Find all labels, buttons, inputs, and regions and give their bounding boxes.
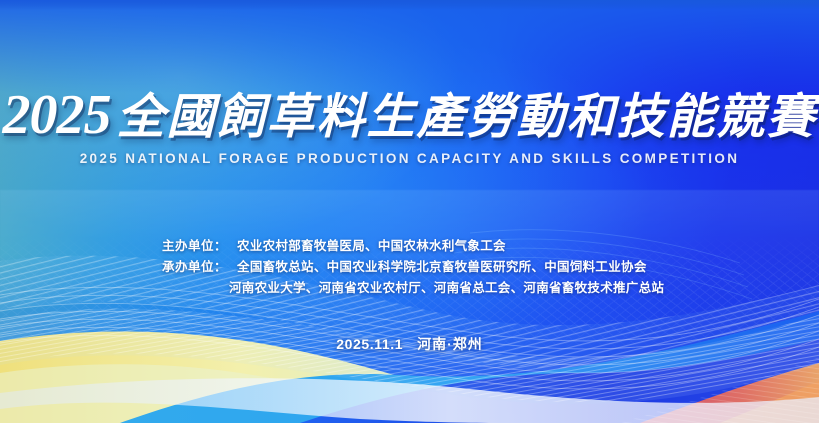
event-location: 河南·郑州 bbox=[417, 336, 483, 352]
title-year: 2025 bbox=[2, 84, 110, 146]
event-date: 2025.11.1 bbox=[336, 336, 403, 352]
poster-title: 2025全國飼草料生產勞動和技能競賽 bbox=[2, 86, 816, 145]
competition-poster: 2025全國飼草料生產勞動和技能競賽 2025 NATIONAL FORAGE … bbox=[0, 0, 819, 423]
title-chinese: 全國飼草料生產勞動和技能競賽 bbox=[116, 91, 816, 144]
credit-value-organizer-continued: 河南农业大学、河南省农业农村厅、河南省总工会、河南省畜牧技术推广总站 bbox=[229, 278, 664, 299]
credit-value-host: 农业农村部畜牧兽医局、中国农林水利气象工会 bbox=[237, 236, 506, 257]
credit-value-organizer: 全国畜牧总站、中国农业科学院北京畜牧兽医研究所、中国饲料工业协会 bbox=[237, 257, 647, 278]
poster-subtitle-english: 2025 NATIONAL FORAGE PRODUCTION CAPACITY… bbox=[0, 151, 819, 166]
headline-block: 2025全國飼草料生產勞動和技能競賽 2025 NATIONAL FORAGE … bbox=[0, 86, 819, 166]
organizer-credits: 主办单位： 农业农村部畜牧兽医局、中国农林水利气象工会 承办单位： 全国畜牧总站… bbox=[0, 236, 819, 299]
credit-label-host: 主办单位： bbox=[162, 236, 227, 257]
credit-row-host: 主办单位： 农业农村部畜牧兽医局、中国农林水利气象工会 bbox=[0, 236, 819, 257]
event-datebar: 2025.11.1河南·郑州 bbox=[0, 334, 819, 354]
credit-row-organizer-continued: 河南农业大学、河南省农业农村厅、河南省总工会、河南省畜牧技术推广总站 bbox=[0, 278, 819, 299]
credit-row-organizer: 承办单位： 全国畜牧总站、中国农业科学院北京畜牧兽医研究所、中国饲料工业协会 bbox=[0, 257, 819, 278]
credit-label-organizer: 承办单位： bbox=[162, 257, 227, 278]
